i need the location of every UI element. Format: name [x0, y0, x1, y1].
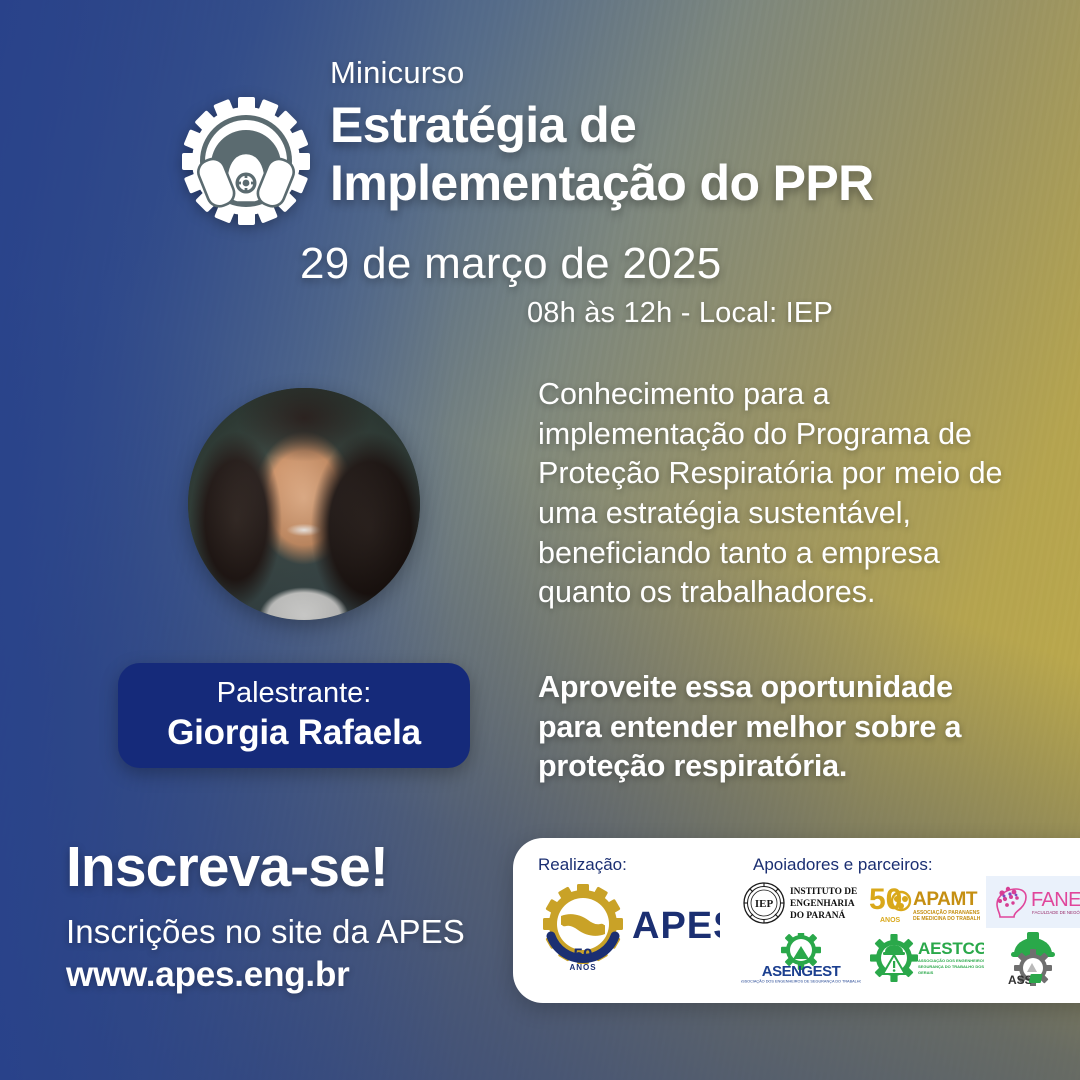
apes-logo: 50 ANOS APES [535, 880, 720, 978]
speaker-name: Giorgia Rafaela [167, 713, 421, 753]
iep-seal-icon: IEP [744, 883, 785, 924]
apamt-wordmark: APAMT [913, 889, 978, 910]
event-time-place: 08h às 12h - Local: IEP [300, 297, 1060, 330]
partner-logo-ass: ASS [986, 930, 1080, 986]
aestcg-tagline-3: GERAIS [918, 970, 934, 975]
partner-logo-asengest: ASENGEST ASSOCIAÇÃO DOS ENGENHEIROS DE S… [741, 933, 861, 985]
event-poster: Minicurso [0, 0, 1080, 1080]
cta-subtext: Inscrições no site da APES [66, 913, 465, 951]
aestcg-gear-helmet-icon [870, 934, 918, 982]
iep-line-3: DO PARANÁ [790, 909, 846, 921]
fanest-head-icon [997, 887, 1026, 917]
realization-label: Realização: [538, 855, 627, 875]
asengest-wordmark: ASENGEST [762, 963, 841, 980]
page-title: Estratégia de Implementação do PPR [330, 96, 1030, 212]
partner-logo-fanest: FANEST FACULDADE DE NEGÓCIOS E SAÚDE [986, 876, 1080, 928]
aestcg-tagline-1: ASSOCIAÇÃO DOS ENGENHEIROS DE [918, 958, 984, 963]
cta-headline: Inscreva-se! [66, 834, 388, 900]
sponsors-panel: Realização: Apoiadores e parceiros: [513, 838, 1080, 1003]
ass-wordmark: ASS [1008, 973, 1033, 986]
apes-wordmark: APES [632, 905, 720, 947]
title-line-2: Implementação do PPR [330, 154, 1030, 212]
kicker-label: Minicurso [330, 55, 464, 91]
apes-anniversary-word: ANOS [569, 963, 596, 972]
speaker-badge: Palestrante: Giorgia Rafaela [118, 663, 470, 768]
apamt-logo-icon: 50 ANOS [869, 883, 910, 924]
partner-logo-apamt: 50 ANOS APAMT ASSOCIAÇÃO PARANAENSE DE M… [868, 879, 980, 927]
apamt-anniversary-word: ANOS [880, 917, 901, 924]
gear-respirator-icon [172, 95, 320, 237]
iep-line-1: INSTITUTO DE [790, 887, 857, 897]
aestcg-tagline-2: SEGURANÇA DO TRABALHO DOS CAMPOS [918, 964, 984, 969]
svg-text:IEP: IEP [755, 898, 774, 910]
title-line-1: Estratégia de [330, 97, 636, 153]
apes-anniversary-number: 50 [574, 945, 593, 964]
partners-label: Apoiadores e parceiros: [753, 855, 933, 875]
portrait-vignette [188, 388, 420, 620]
event-date: 29 de março de 2025 [300, 239, 1060, 289]
partner-logo-iep: IEP INSTITUTO DE ENGENHARIA DO PARANÁ [741, 880, 861, 926]
fanest-wordmark: FANEST [1031, 889, 1080, 911]
speaker-avatar [188, 388, 420, 620]
fanest-tagline: FACULDADE DE NEGÓCIOS E SAÚDE [1032, 910, 1080, 915]
apamt-tagline-1: ASSOCIAÇÃO PARANAENSE [913, 909, 980, 916]
description-paragraph: Conhecimento para a implementação do Pro… [538, 375, 1008, 613]
description-highlight: Aproveite essa oportunidade para entende… [538, 668, 1008, 787]
partner-logo-aestcg: AESTCG ASSOCIAÇÃO DOS ENGENHEIROS DE SEG… [868, 931, 984, 985]
iep-line-2: ENGENHARIA [790, 899, 855, 909]
speaker-role-label: Palestrante: [217, 678, 372, 708]
apamt-tagline-2: DE MEDICINA DO TRABALHO [913, 916, 980, 922]
aestcg-wordmark: AESTCG [918, 939, 984, 958]
asengest-tagline: ASSOCIAÇÃO DOS ENGENHEIROS DE SEGURANÇA … [741, 979, 861, 984]
cta-website-link[interactable]: www.apes.eng.br [66, 955, 350, 995]
